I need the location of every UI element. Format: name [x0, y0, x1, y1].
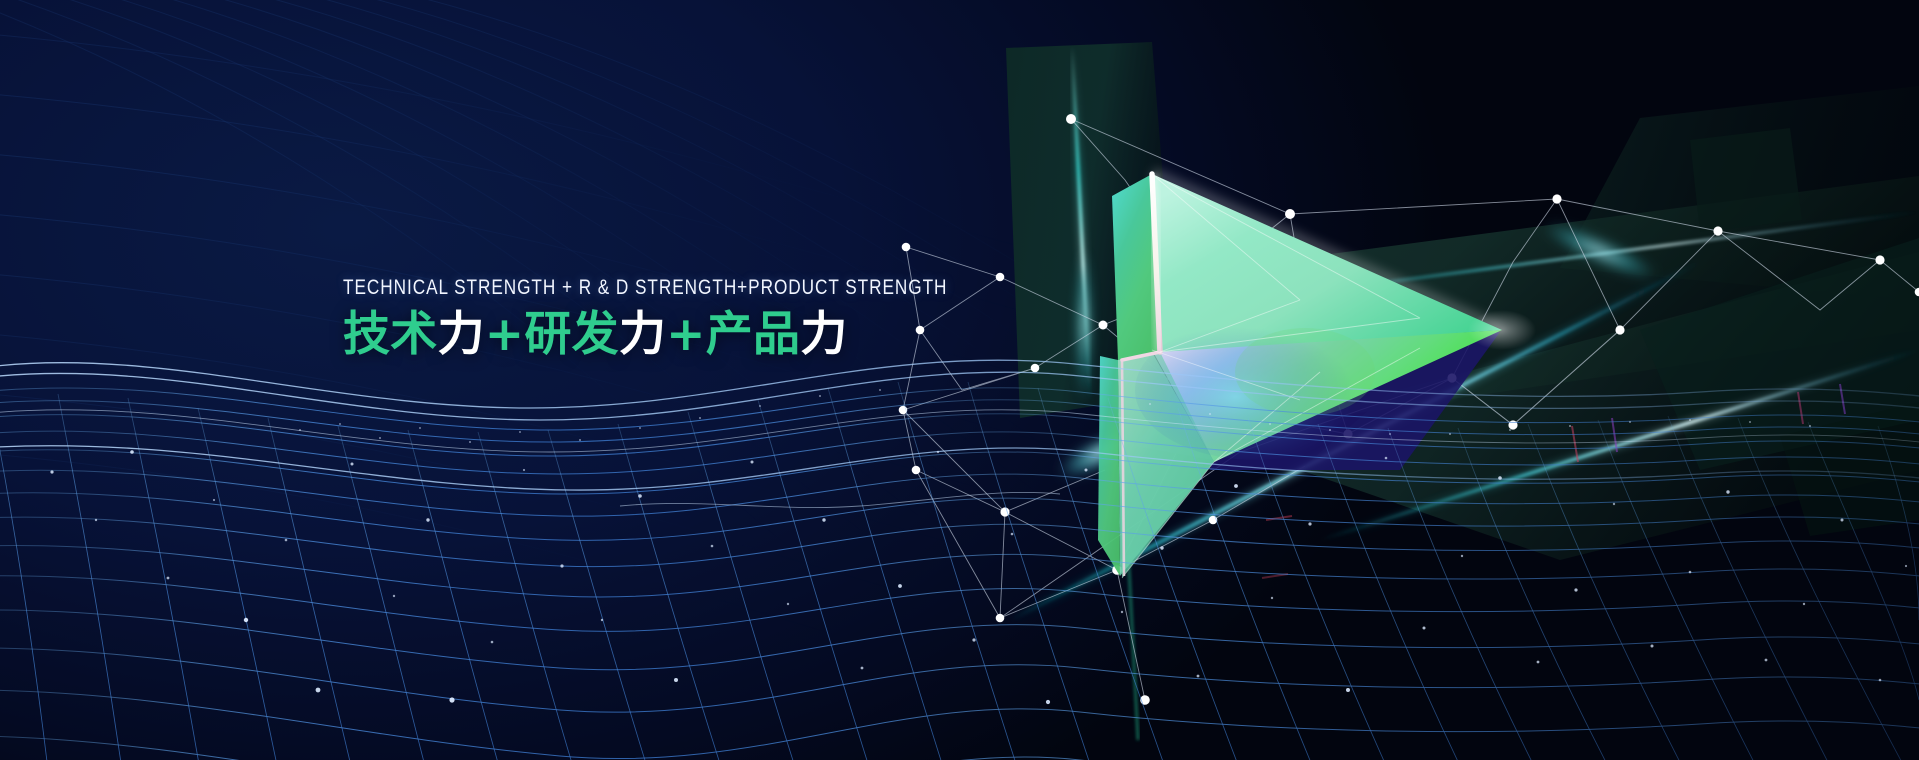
hero-banner: TECHNICAL STRENGTH + R & D STRENGTH+PROD… [0, 0, 1919, 760]
wireframe-terrain-mesh [0, 0, 1919, 760]
